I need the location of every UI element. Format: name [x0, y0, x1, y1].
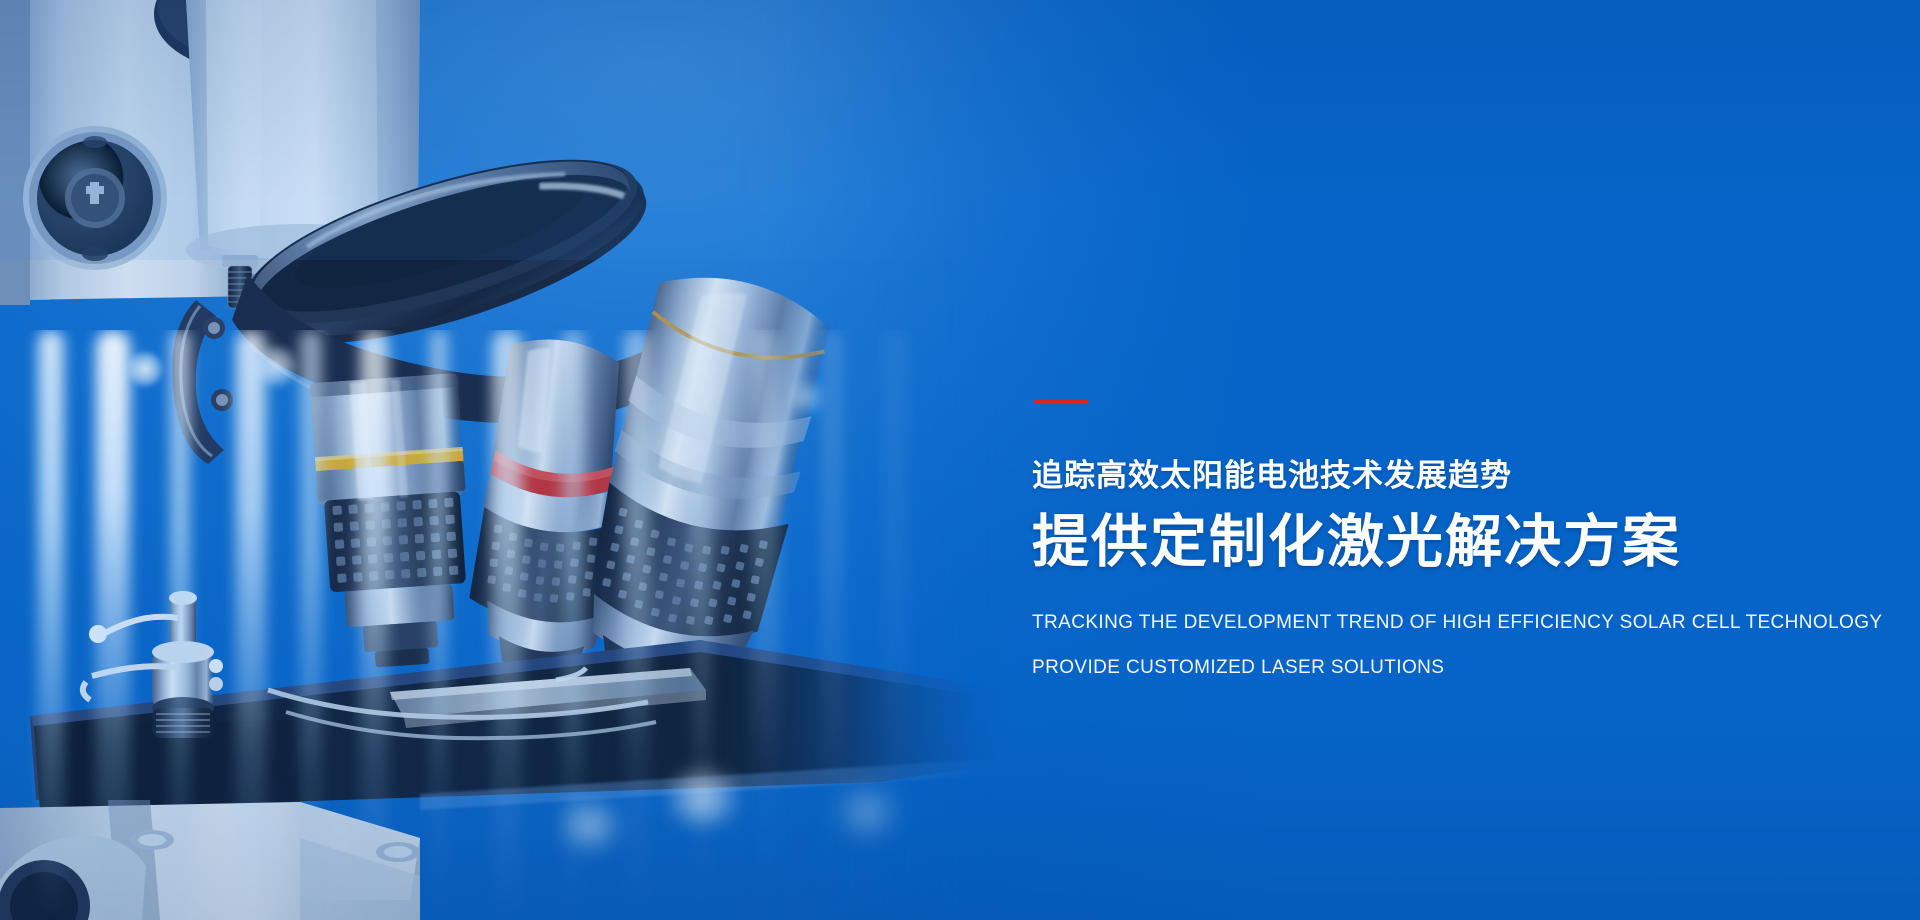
hero-subtitle-2: PROVIDE CUSTOMIZED LASER SOLUTIONS: [1032, 658, 1792, 677]
hero-copy: 追踪高效太阳能电池技术发展趋势 提供定制化激光解决方案 TRACKING THE…: [1032, 400, 1792, 677]
hero-headline: 提供定制化激光解决方案: [1032, 513, 1792, 573]
hero-kicker: 追踪高效太阳能电池技术发展趋势: [1032, 460, 1792, 491]
hero-banner: 追踪高效太阳能电池技术发展趋势 提供定制化激光解决方案 TRACKING THE…: [0, 0, 1920, 920]
hero-subtitle-1: TRACKING THE DEVELOPMENT TREND OF HIGH E…: [1032, 613, 1792, 632]
accent-rule: [1034, 400, 1088, 404]
